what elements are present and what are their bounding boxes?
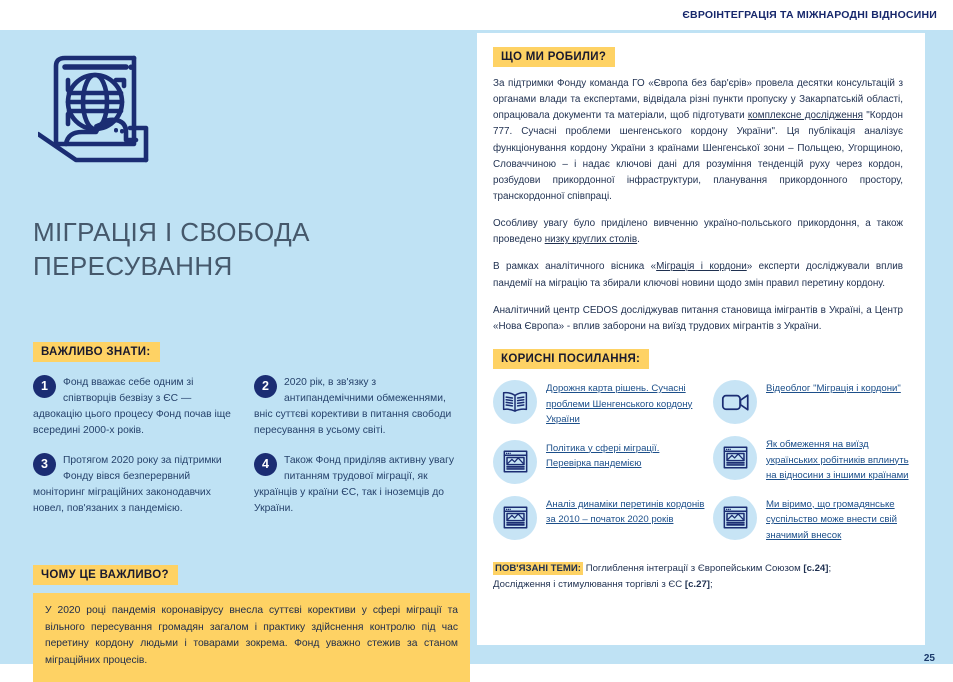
right-panel: ЩО МИ РОБИЛИ? За підтримки Фонду команда…: [477, 33, 925, 645]
link-item[interactable]: Як обмеження на виїзд українських робітн…: [713, 436, 911, 484]
body-paragraph-1: За підтримки Фонду команда ГО «Європа бе…: [493, 76, 903, 205]
page-header: ЄВРОІНТЕГРАЦІЯ ТА МІЖНАРОДНІ ВІДНОСИНИ: [0, 0, 953, 30]
link-label[interactable]: Політика у сфері міграції. Перевірка пан…: [546, 440, 705, 472]
link-label[interactable]: Як обмеження на виїзд українських робітн…: [766, 436, 911, 484]
page-number: 25: [924, 653, 935, 664]
link-item[interactable]: Дорожня карта рішень. Сучасні проблеми Ш…: [493, 380, 705, 428]
related-topic-text-1: Поглиблення інтеграції з Європейським Со…: [586, 563, 801, 574]
link-item[interactable]: Політика у сфері міграції. Перевірка пан…: [493, 440, 705, 484]
related-topic-text-2: Дослідження і стимулювання торгівлі з ЄС: [493, 579, 682, 590]
related-topics: ПОВ'ЯЗАНІ ТЕМИ: Поглиблення інтеграції з…: [493, 561, 903, 592]
fact-item: 2 2020 рік, в зв'язку з антипандемічними…: [254, 375, 463, 439]
left-column: МІГРАЦІЯ І СВОБОДА ПЕРЕСУВАННЯ ВАЖЛИВО З…: [0, 30, 477, 675]
article-chart-icon: [713, 496, 757, 540]
important-to-know-label: ВАЖЛИВО ЗНАТИ:: [33, 342, 160, 362]
fact-text: Фонд вважає себе одним зі співтворців бе…: [33, 377, 231, 436]
link-item[interactable]: Відеоблог "Міграція і кордони": [713, 380, 911, 424]
fact-number-badge: 4: [254, 453, 277, 476]
related-topic-sep-2: ;: [710, 579, 713, 590]
page-root: ЄВРОІНТЕГРАЦІЯ ТА МІЖНАРОДНІ ВІДНОСИНИ: [0, 0, 953, 675]
inline-link[interactable]: комплексне дослідження: [748, 110, 863, 121]
inline-link[interactable]: низку круглих столів: [545, 234, 637, 245]
link-item[interactable]: Ми віримо, що громадянське суспільство м…: [713, 496, 911, 544]
related-topic-page-1: [c.24]: [803, 563, 828, 574]
what-we-did-heading: ЩО МИ РОБИЛИ?: [493, 47, 903, 67]
paragraph-text-2: Особливу увагу було приділено вивченню у…: [493, 218, 903, 245]
passport-globe-in-hand-icon: [38, 52, 178, 180]
useful-links-column-left: Дорожня карта рішень. Сучасні проблеми Ш…: [493, 380, 705, 555]
body-paragraph-2: Особливу увагу було приділено вивченню у…: [493, 216, 903, 248]
fact-text: Також Фонд приділяв активну увагу питанн…: [254, 455, 454, 514]
link-label[interactable]: Дорожня карта рішень. Сучасні проблеми Ш…: [546, 380, 705, 428]
fact-text: 2020 рік, в зв'язку з антипандемічними о…: [254, 377, 451, 436]
body-paragraph-3: В рамках аналітичного вісника «Міграція …: [493, 259, 903, 291]
article-chart-icon: [493, 440, 537, 484]
useful-links-column-right: Відеоблог "Міграція і кордони" Як: [713, 380, 911, 555]
facts-list: 1 Фонд вважає себе одним зі співтворців …: [33, 375, 463, 518]
page-title: МІГРАЦІЯ І СВОБОДА ПЕРЕСУВАННЯ: [33, 215, 453, 284]
fact-item: 3 Протягом 2020 року за підтримки Фонду …: [33, 453, 242, 517]
video-camera-icon: [713, 380, 757, 424]
link-item[interactable]: Аналіз динаміки перетинів кордонів за 20…: [493, 496, 705, 540]
fact-number-badge: 1: [33, 375, 56, 398]
open-book-icon: [493, 380, 537, 424]
related-topic-sep-1: ;: [828, 563, 831, 574]
why-important-heading: ЧОМУ ЦЕ ВАЖЛИВО?: [33, 565, 178, 585]
useful-links-label: КОРИСНІ ПОСИЛАННЯ:: [493, 349, 649, 369]
useful-links-heading: КОРИСНІ ПОСИЛАННЯ:: [493, 349, 903, 369]
paragraph-text-1: За підтримки Фонду команда ГО «Європа бе…: [493, 78, 903, 202]
paragraph-text-3: В рамках аналітичного вісника «Міграція …: [493, 261, 903, 288]
why-important-label: ЧОМУ ЦЕ ВАЖЛИВО?: [33, 565, 178, 585]
related-topic-page-2: [c.27]: [685, 579, 710, 590]
related-topics-label: ПОВ'ЯЗАНІ ТЕМИ:: [493, 562, 583, 575]
header-title: ЄВРОІНТЕГРАЦІЯ ТА МІЖНАРОДНІ ВІДНОСИНИ: [682, 9, 953, 21]
what-we-did-label: ЩО МИ РОБИЛИ?: [493, 47, 615, 67]
fact-item: 1 Фонд вважає себе одним зі співтворців …: [33, 375, 242, 439]
fact-number-badge: 3: [33, 453, 56, 476]
paragraph-text-4: Аналітичний центр CEDOS досліджував пита…: [493, 305, 903, 332]
body-paragraph-4: Аналітичний центр CEDOS досліджував пита…: [493, 303, 903, 335]
fact-number-badge: 2: [254, 375, 277, 398]
article-chart-icon: [493, 496, 537, 540]
why-important-text: У 2020 році пандемія коронавірусу внесла…: [33, 593, 470, 682]
fact-text: Протягом 2020 року за підтримки Фонду ві…: [33, 455, 222, 514]
fact-item: 4 Також Фонд приділяв активну увагу пита…: [254, 453, 463, 517]
link-label[interactable]: Аналіз динаміки перетинів кордонів за 20…: [546, 496, 705, 528]
important-to-know-heading: ВАЖЛИВО ЗНАТИ:: [33, 342, 160, 362]
link-label[interactable]: Ми віримо, що громадянське суспільство м…: [766, 496, 911, 544]
useful-links-grid: Дорожня карта рішень. Сучасні проблеми Ш…: [493, 380, 903, 555]
inline-link[interactable]: Міграція і кордони: [656, 261, 747, 272]
article-chart-icon: [713, 436, 757, 480]
link-label[interactable]: Відеоблог "Міграція і кордони": [766, 380, 901, 397]
